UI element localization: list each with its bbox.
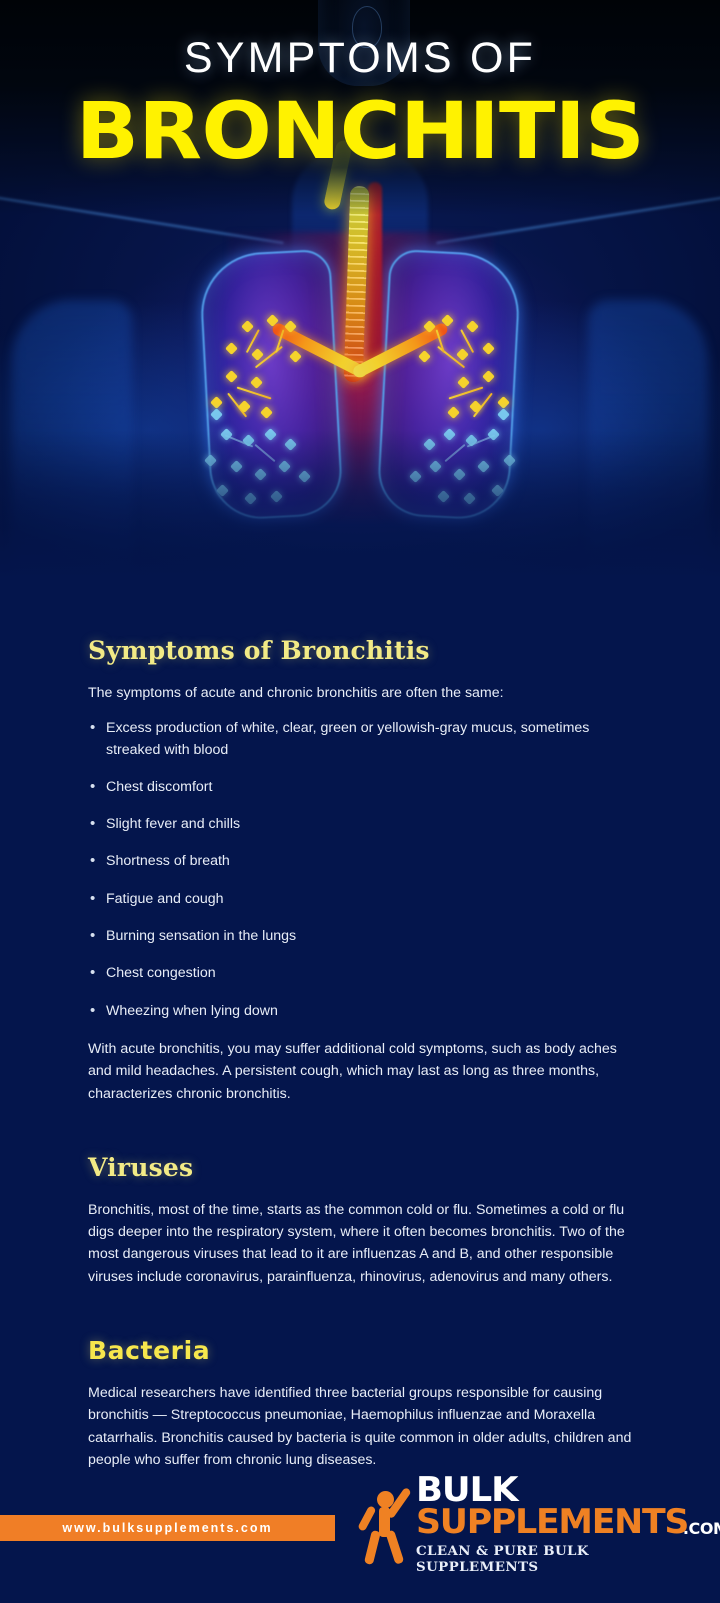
section-spacer bbox=[88, 1302, 640, 1336]
page-title: SYMPTOMS OF BRONCHITIS bbox=[0, 34, 720, 177]
hero-bottom-fade bbox=[0, 430, 720, 600]
list-item: Slight fever and chills bbox=[88, 814, 640, 835]
infographic-page: SYMPTOMS OF BRONCHITIS Symptoms of Bronc… bbox=[0, 0, 720, 1603]
figure-lower-arm bbox=[357, 1505, 376, 1532]
website-url-text: www.bulksupplements.com bbox=[62, 1521, 272, 1535]
symptoms-outro: With acute bronchitis, you may suffer ad… bbox=[88, 1038, 640, 1105]
section-bacteria: Bacteria Medical researchers have identi… bbox=[88, 1336, 640, 1471]
list-item: Wheezing when lying down bbox=[88, 1001, 640, 1022]
section-spacer bbox=[88, 1119, 640, 1153]
list-item: Excess production of white, clear, green… bbox=[88, 718, 640, 761]
section-symptoms: Symptoms of Bronchitis The symptoms of a… bbox=[88, 636, 640, 1105]
figure-head bbox=[377, 1491, 394, 1508]
list-item: Chest congestion bbox=[88, 963, 640, 984]
list-item: Fatigue and cough bbox=[88, 889, 640, 910]
footer: www.bulksupplements.com BULK SUPPLEMENTS… bbox=[0, 1455, 720, 1603]
section-heading-viruses: Viruses bbox=[88, 1153, 640, 1182]
figure-right-leg bbox=[385, 1530, 404, 1565]
list-item: Chest discomfort bbox=[88, 777, 640, 798]
figure-left-leg bbox=[364, 1530, 381, 1565]
viruses-body: Bronchitis, most of the time, starts as … bbox=[88, 1199, 640, 1288]
section-heading-bacteria: Bacteria bbox=[88, 1336, 640, 1365]
brand-tld: .COM bbox=[683, 1522, 720, 1539]
brand-wordmark: BULK SUPPLEMENTS .COM CLEAN & PURE BULK … bbox=[416, 1475, 688, 1575]
content-area: Symptoms of Bronchitis The symptoms of a… bbox=[0, 600, 720, 1485]
symptoms-intro: The symptoms of acute and chronic bronch… bbox=[88, 682, 640, 704]
list-item: Burning sensation in the lungs bbox=[88, 926, 640, 947]
brand-name-bottom-row: SUPPLEMENTS .COM bbox=[416, 1507, 688, 1538]
running-person-icon bbox=[358, 1481, 410, 1565]
brand-tagline: CLEAN & PURE BULK SUPPLEMENTS bbox=[416, 1543, 688, 1575]
list-item: Shortness of breath bbox=[88, 851, 640, 872]
brand-logo[interactable]: BULK SUPPLEMENTS .COM CLEAN & PURE BULK … bbox=[358, 1467, 688, 1587]
section-viruses: Viruses Bronchitis, most of the time, st… bbox=[88, 1153, 640, 1288]
website-url-banner[interactable]: www.bulksupplements.com bbox=[0, 1515, 335, 1541]
brand-name-bottom: SUPPLEMENTS bbox=[416, 1507, 688, 1538]
title-line-2: BRONCHITIS bbox=[0, 87, 720, 177]
symptoms-list: Excess production of white, clear, green… bbox=[88, 718, 640, 1022]
section-heading-symptoms: Symptoms of Bronchitis bbox=[88, 636, 640, 665]
title-line-1: SYMPTOMS OF bbox=[0, 34, 720, 83]
